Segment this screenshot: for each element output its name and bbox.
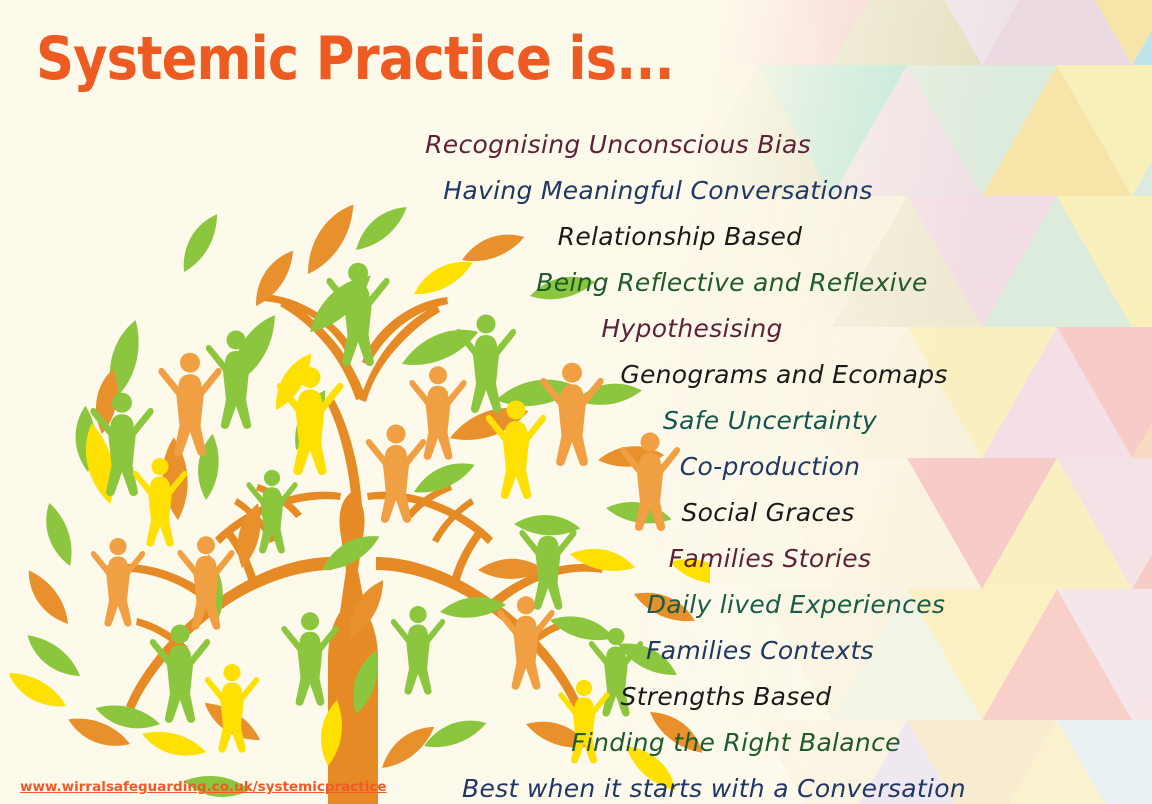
phrase-item: Best when it starts with a Conversation <box>354 766 1074 804</box>
mosaic-triangle <box>1057 65 1152 196</box>
poster-canvas: Systemic Practice is... Recognising Unco… <box>0 0 1152 804</box>
phrase-item: Having Meaningful Conversations <box>298 168 1018 214</box>
phrase-item: Genograms and Ecomaps <box>424 352 1144 398</box>
phrase-item: Families Contexts <box>400 628 1120 674</box>
phrase-item: Daily lived Experiences <box>436 582 1152 628</box>
phrase-item: Being Reflective and Reflexive <box>372 260 1092 306</box>
website-url-link[interactable]: www.wirralsafeguarding.co.uk/systemicpra… <box>20 779 387 795</box>
phrase-item: Co-production <box>410 444 1130 490</box>
phrase-item: Hypothesising <box>332 306 1052 352</box>
phrase-item: Relationship Based <box>320 214 1040 260</box>
phrase-item: Safe Uncertainty <box>410 398 1130 444</box>
phrase-item: Finding the Right Balance <box>376 720 1096 766</box>
mosaic-triangle <box>757 0 907 65</box>
phrase-item: Families Stories <box>410 536 1130 582</box>
phrase-item: Social Graces <box>408 490 1128 536</box>
systemic-practice-phrase-list: Recognising Unconscious BiasHaving Meani… <box>300 122 1020 804</box>
page-title: Systemic Practice is... <box>36 24 674 94</box>
mosaic-triangle <box>907 0 1057 65</box>
phrase-item: Recognising Unconscious Bias <box>258 122 978 168</box>
mosaic-triangle <box>1057 0 1152 65</box>
phrase-item: Strengths Based <box>366 674 1086 720</box>
